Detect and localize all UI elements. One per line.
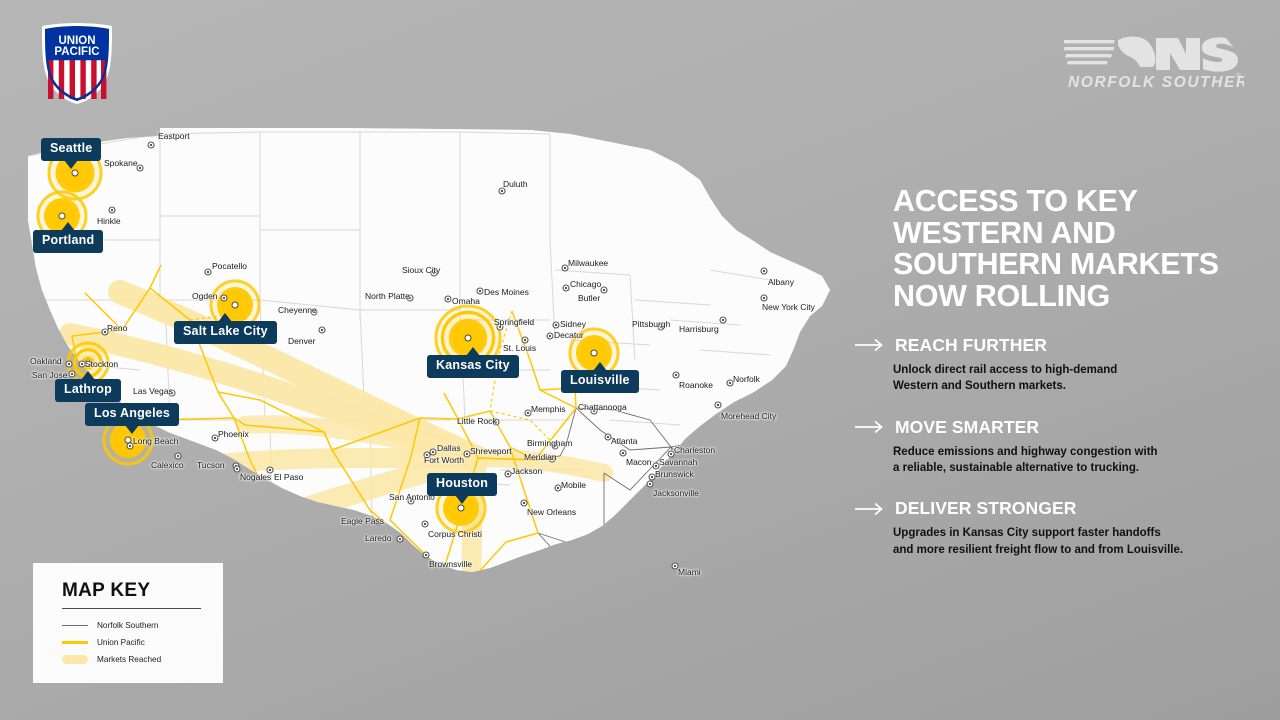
city-dot	[221, 295, 227, 301]
city-dot	[761, 295, 767, 301]
map-key-label: Markets Reached	[97, 655, 161, 664]
map-key-rows: Norfolk SouthernUnion PacificMarkets Rea…	[33, 621, 223, 664]
city-dot	[605, 434, 611, 440]
city-dot	[668, 451, 674, 457]
city-dot	[563, 285, 569, 291]
map-key-swatch-ns	[62, 625, 88, 627]
city-dot	[127, 443, 133, 449]
city-dot	[234, 466, 240, 472]
benefit-list: REACH FURTHERUnlock direct rail access t…	[893, 335, 1253, 558]
hub-label-houston[interactable]: Houston	[427, 473, 497, 496]
map-key-swatch-mr	[62, 655, 88, 664]
pill-tail	[455, 495, 469, 504]
city-dot	[445, 296, 451, 302]
city-dot	[549, 456, 555, 462]
city-dot	[562, 265, 568, 271]
arrow-right-icon	[855, 338, 885, 352]
pill-tail	[593, 362, 607, 371]
city-dot	[267, 467, 273, 473]
city-dot	[552, 443, 558, 449]
city-dot	[499, 188, 505, 194]
pill-tail	[218, 313, 232, 322]
map-key-panel: MAP KEY Norfolk SouthernUnion PacificMar…	[33, 563, 223, 683]
svg-text:®: ®	[1236, 72, 1242, 80]
map-key-item-2: Markets Reached	[62, 655, 223, 664]
hub-label-seattle[interactable]: Seattle	[41, 138, 101, 161]
us-rail-network-map: EastportSpokaneHinkleDuluthPocatelloSiou…	[10, 120, 890, 590]
city-dot	[175, 453, 181, 459]
city-dot	[464, 451, 470, 457]
headline-line-1: WESTERN AND	[893, 218, 1253, 250]
pill-tail	[81, 371, 95, 380]
city-dot	[553, 322, 559, 328]
copy-column: ACCESS TO KEYWESTERN ANDSOUTHERN MARKETS…	[893, 186, 1253, 558]
benefit-body: Unlock direct rail access to high-demand…	[893, 362, 1253, 395]
city-dot	[673, 372, 679, 378]
arrow-right-icon	[855, 420, 885, 434]
city-dot	[591, 408, 597, 414]
city-dot	[169, 390, 175, 396]
city-dot	[137, 165, 143, 171]
headline-line-3: NOW ROLLING	[893, 281, 1253, 313]
benefit-item-2: MOVE SMARTERReduce emissions and highway…	[893, 417, 1253, 477]
map-key-item-0: Norfolk Southern	[62, 621, 223, 630]
city-dot	[319, 327, 325, 333]
city-dot	[493, 419, 499, 425]
map-key-title: MAP KEY	[62, 580, 223, 602]
city-dot	[555, 485, 561, 491]
benefit-item-1: REACH FURTHERUnlock direct rail access t…	[893, 335, 1253, 395]
city-dot	[521, 500, 527, 506]
benefit-body: Reduce emissions and highway congestion …	[893, 444, 1253, 477]
headline-line-0: ACCESS TO KEY	[893, 186, 1253, 218]
city-dot	[727, 380, 733, 386]
hub-label-kansas-city[interactable]: Kansas City	[427, 355, 519, 378]
city-dot	[505, 471, 511, 477]
city-dot	[620, 450, 626, 456]
city-dot	[212, 435, 218, 441]
hub-label-portland[interactable]: Portland	[33, 230, 103, 253]
city-dot	[430, 449, 436, 455]
map-key-divider	[62, 608, 201, 609]
city-dot	[547, 333, 553, 339]
city-dot	[423, 552, 429, 558]
city-dot	[375, 519, 381, 525]
city-dot	[720, 317, 726, 323]
city-dot	[761, 268, 767, 274]
benefit-body: Upgrades in Kansas City support faster h…	[893, 525, 1253, 558]
map-key-item-1: Union Pacific	[62, 638, 223, 647]
map-key-label: Norfolk Southern	[97, 621, 158, 630]
city-dot	[497, 324, 503, 330]
benefit-title: MOVE SMARTER	[895, 417, 1039, 438]
benefit-item-3: DELIVER STRONGERUpgrades in Kansas City …	[893, 498, 1253, 558]
pill-tail	[466, 347, 480, 356]
headline-line-2: SOUTHERN MARKETS	[893, 249, 1253, 281]
map-key-label: Union Pacific	[97, 638, 145, 647]
city-dot	[658, 324, 664, 330]
pill-tail	[125, 425, 139, 434]
city-dot	[649, 474, 655, 480]
hub-label-los-angeles[interactable]: Los Angeles	[85, 403, 179, 426]
city-dot	[672, 563, 678, 569]
norfolk-southern-logo: NORFOLK SOUTHERN ®	[1064, 30, 1244, 92]
map-key-swatch-up	[62, 641, 88, 644]
arrow-right-icon	[855, 502, 885, 516]
union-pacific-logo: UNION PACIFIC	[38, 20, 116, 106]
city-dot	[102, 329, 108, 335]
city-dot	[205, 269, 211, 275]
city-dot	[715, 402, 721, 408]
city-dot	[407, 295, 413, 301]
pill-tail	[64, 160, 78, 169]
slide-canvas: UNION PACIFIC NORFOLK SOUTHERN ®	[0, 0, 1280, 720]
city-dot	[79, 361, 85, 367]
city-dot	[109, 207, 115, 213]
city-dot	[397, 536, 403, 542]
city-dot	[424, 452, 430, 458]
up-logo-line2: PACIFIC	[54, 46, 99, 58]
city-dot	[525, 410, 531, 416]
city-dot	[522, 337, 528, 343]
benefit-title: REACH FURTHER	[895, 335, 1047, 356]
city-dot	[653, 463, 659, 469]
hub-label-louisville[interactable]: Louisville	[561, 370, 639, 393]
city-dot	[69, 371, 75, 377]
city-dot	[431, 270, 437, 276]
page-title: ACCESS TO KEYWESTERN ANDSOUTHERN MARKETS…	[893, 186, 1253, 313]
city-dot	[66, 361, 72, 367]
city-dot	[601, 287, 607, 293]
ns-wordmark: NORFOLK SOUTHERN	[1068, 74, 1244, 91]
city-dot	[408, 498, 414, 504]
city-dot	[148, 142, 154, 148]
pill-tail	[61, 222, 75, 231]
benefit-title: DELIVER STRONGER	[895, 498, 1076, 519]
city-dot	[311, 309, 317, 315]
city-dot	[422, 521, 428, 527]
city-dot	[647, 481, 653, 487]
hub-label-salt-lake-city[interactable]: Salt Lake City	[174, 321, 277, 344]
city-dot	[477, 288, 483, 294]
hub-label-lathrop[interactable]: Lathrop	[55, 379, 121, 402]
